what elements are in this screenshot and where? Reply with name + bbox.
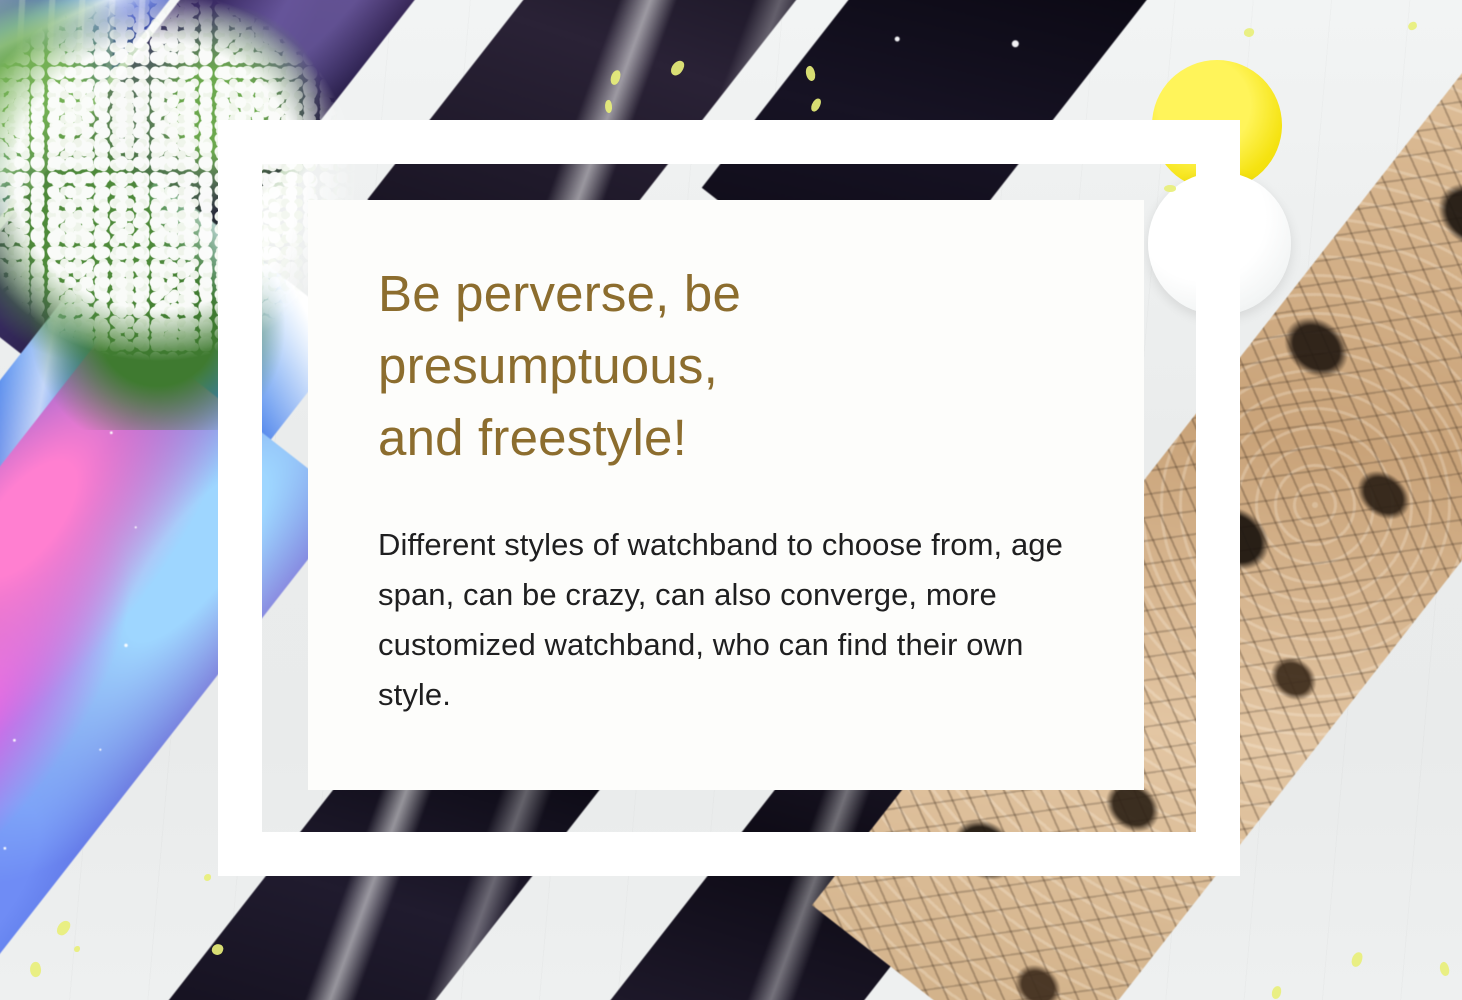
highlight-dot-icon bbox=[894, 36, 901, 43]
body-copy: Different styles of watchband to choose … bbox=[378, 520, 1072, 720]
text-card: Be perverse, be presumptuous, and freest… bbox=[308, 200, 1144, 790]
highlight-dot-icon bbox=[1010, 39, 1020, 49]
banner-stage: Be perverse, be presumptuous, and freest… bbox=[0, 0, 1462, 1000]
headline: Be perverse, be presumptuous, and freest… bbox=[378, 258, 808, 474]
